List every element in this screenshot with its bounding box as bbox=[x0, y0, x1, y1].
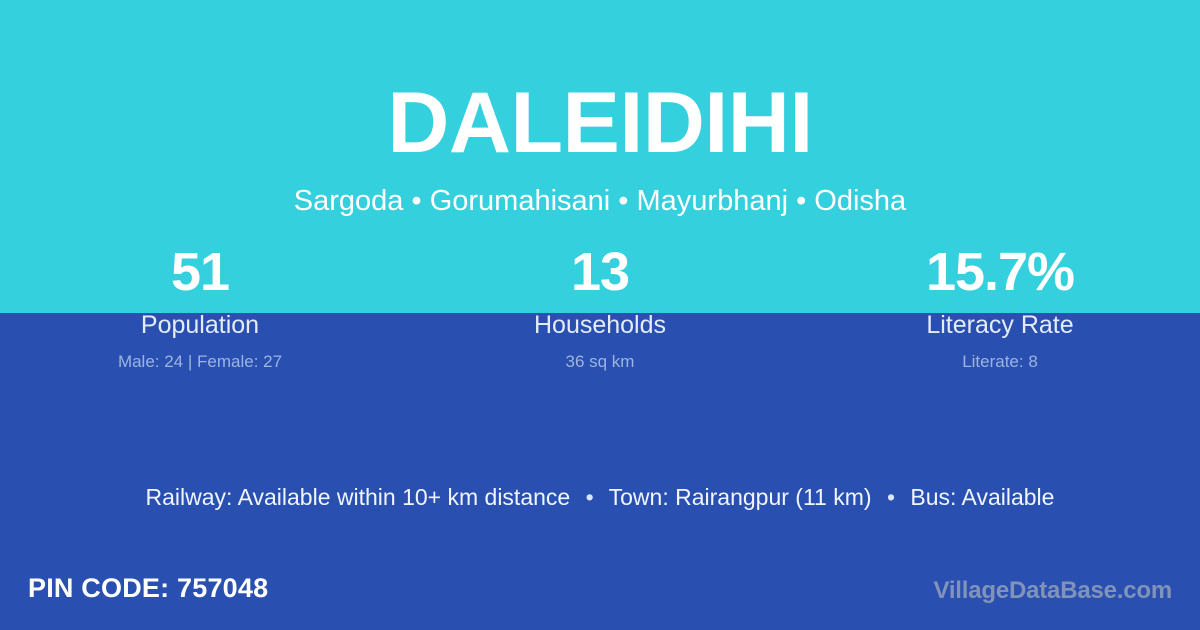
stat-households-sub: 36 sq km bbox=[400, 353, 800, 372]
amenity-separator-2: • bbox=[878, 484, 904, 512]
village-info-card: DALEIDIHI Sargoda • Gorumahisani • Mayur… bbox=[0, 0, 1200, 630]
amenities-line: Railway: Available within 10+ km distanc… bbox=[0, 484, 1200, 512]
amenity-bus: Bus: Available bbox=[910, 484, 1054, 510]
card-header: DALEIDIHI Sargoda • Gorumahisani • Mayur… bbox=[0, 0, 1200, 216]
stat-literacy-rate: 15.7% Literacy Rate Literate: 8 bbox=[800, 243, 1200, 372]
pin-code: PIN CODE: 757048 bbox=[28, 572, 268, 604]
card-footer: PIN CODE: 757048 VillageDataBase.com bbox=[0, 558, 1200, 630]
stat-literacy-rate-sub: Literate: 8 bbox=[800, 353, 1200, 372]
stat-population-value: 51 bbox=[0, 243, 400, 302]
stat-households: 13 Households 36 sq km bbox=[400, 243, 800, 372]
amenity-town: Town: Rairangpur (11 km) bbox=[609, 484, 872, 510]
page-title: DALEIDIHI bbox=[0, 80, 1200, 166]
stat-population-sub: Male: 24 | Female: 27 bbox=[0, 353, 400, 372]
site-brand: VillageDataBase.com bbox=[933, 577, 1172, 606]
breadcrumb: Sargoda • Gorumahisani • Mayurbhanj • Od… bbox=[0, 187, 1200, 216]
stat-population-label: Population bbox=[0, 312, 400, 340]
stat-literacy-rate-label: Literacy Rate bbox=[800, 312, 1200, 340]
stat-households-label: Households bbox=[400, 312, 800, 340]
stats-row: 51 Population Male: 24 | Female: 27 13 H… bbox=[0, 243, 1200, 372]
stat-literacy-rate-value: 15.7% bbox=[800, 243, 1200, 302]
stat-population: 51 Population Male: 24 | Female: 27 bbox=[0, 243, 400, 372]
amenity-railway: Railway: Available within 10+ km distanc… bbox=[146, 484, 571, 510]
stat-households-value: 13 bbox=[400, 243, 800, 302]
amenity-separator-1: • bbox=[577, 484, 603, 512]
